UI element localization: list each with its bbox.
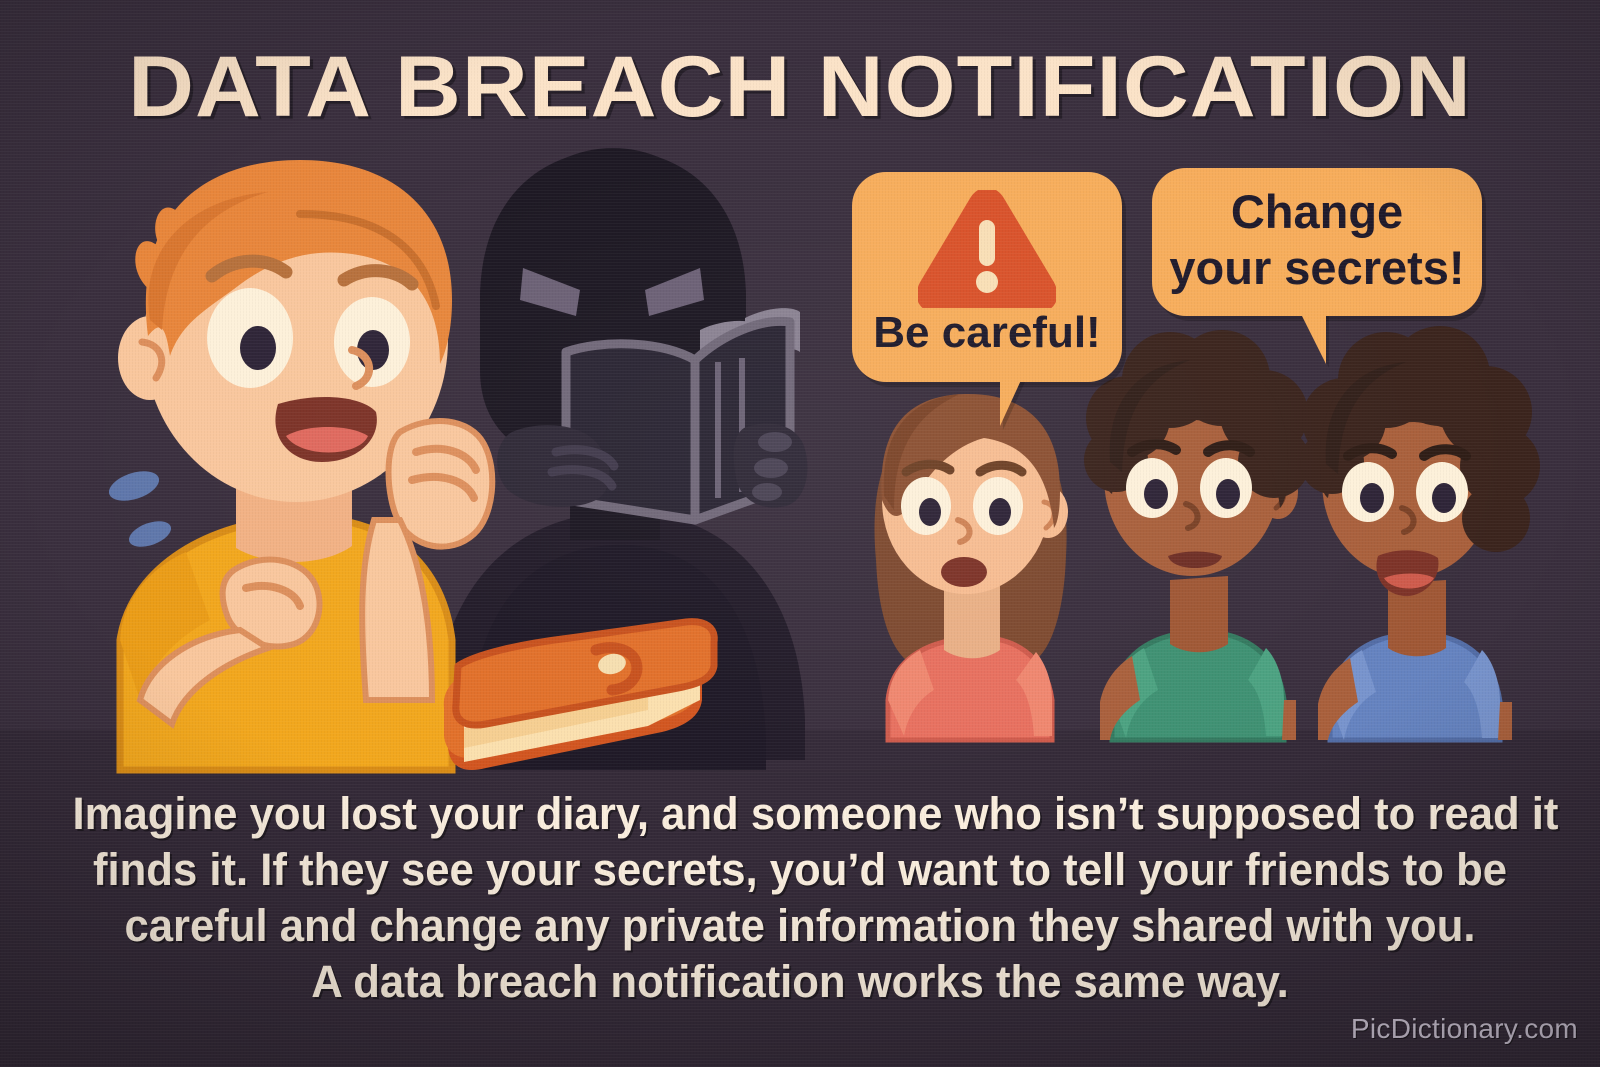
poster-canvas: Be careful! Change your secrets! DATA BR… bbox=[0, 0, 1600, 1067]
speech-bubble-be-careful[interactable]: Be careful! bbox=[852, 172, 1122, 382]
caption-line-4: A data breach notification works the sam… bbox=[73, 954, 1528, 1010]
caption-line-2: finds it. If they see your secrets, you’… bbox=[73, 842, 1528, 898]
caption-line-1: Imagine you lost your diary, and someone… bbox=[73, 786, 1528, 842]
speech-bubble-tail-be-careful bbox=[1000, 378, 1040, 426]
warning-triangle-icon bbox=[918, 190, 1056, 308]
caption-text: Imagine you lost your diary, and someone… bbox=[73, 786, 1528, 1010]
be-careful-text: Be careful! bbox=[852, 308, 1122, 358]
page-title: DATA BREACH NOTIFICATION bbox=[0, 38, 1600, 137]
speech-bubble-change-secrets[interactable]: Change your secrets! bbox=[1152, 168, 1482, 316]
change-secrets-text: Change your secrets! bbox=[1152, 184, 1482, 296]
change-secrets-line1: Change bbox=[1152, 184, 1482, 240]
change-secrets-line2: your secrets! bbox=[1152, 240, 1482, 296]
speech-bubble-tail-change-secrets bbox=[1286, 312, 1326, 364]
watermark-label: PicDictionary.com bbox=[1351, 1013, 1578, 1045]
caption-line-3: careful and change any private informati… bbox=[73, 898, 1528, 954]
